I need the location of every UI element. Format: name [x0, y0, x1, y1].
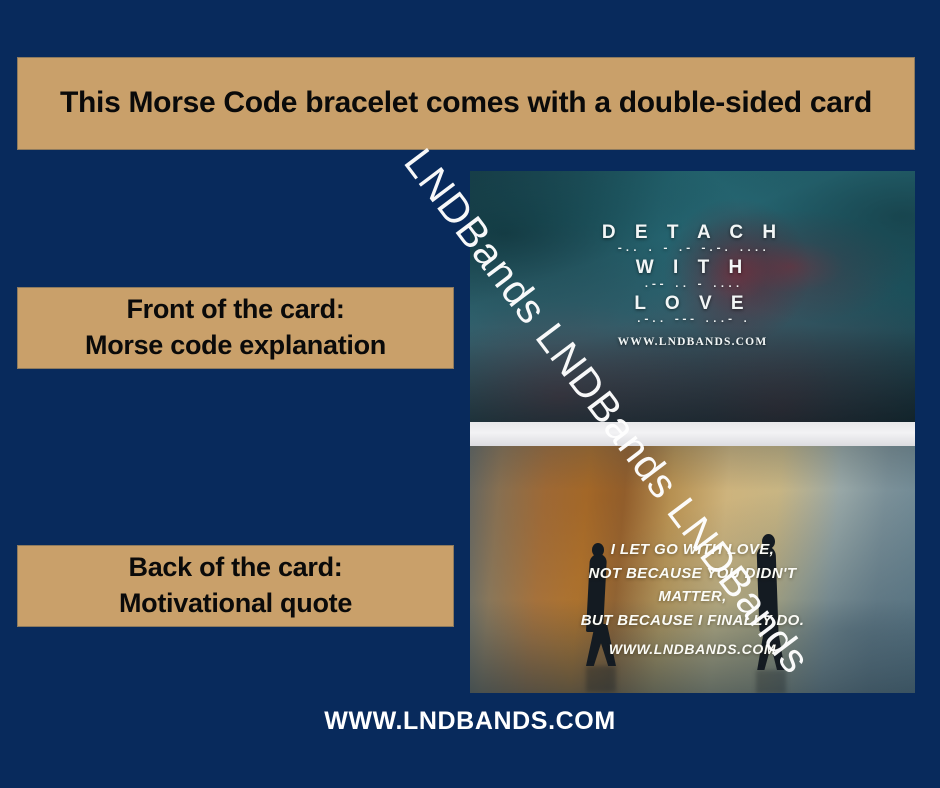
walker-figure-left-reflection: [586, 666, 616, 692]
back-quote-line-2: NOT BECAUSE YOU DIDN'T: [470, 562, 915, 586]
card-images-group: D E T A C H -.. . - .- -.-. .... W I T H…: [470, 171, 915, 693]
caption-back-text: Back of the card: Motivational quote: [111, 550, 360, 621]
card-separator-strip: [470, 422, 915, 446]
headline-banner: This Morse Code bracelet comes with a do…: [17, 57, 915, 150]
front-card-text: D E T A C H -.. . - .- -.-. .... W I T H…: [470, 223, 915, 348]
back-card-quote: I LET GO WITH LOVE, NOT BECAUSE YOU DIDN…: [470, 538, 915, 660]
front-card-website: WWW.LNDBANDS.COM: [470, 336, 915, 348]
front-morse-love: .-.. --- ...- .: [470, 314, 915, 326]
headline-text: This Morse Code bracelet comes with a do…: [36, 84, 896, 122]
front-word-detach: D E T A C H: [470, 223, 915, 242]
caption-box-front: Front of the card: Morse code explanatio…: [17, 287, 454, 369]
back-card-website: WWW.LNDBANDS.COM: [470, 638, 915, 660]
footer-website: WWW.LNDBANDS.COM: [0, 707, 940, 736]
front-morse-with: .-- .. - ....: [470, 279, 915, 291]
card-front-image: D E T A C H -.. . - .- -.-. .... W I T H…: [470, 171, 915, 422]
front-word-love: L O V E: [470, 294, 915, 313]
front-morse-detach: -.. . - .- -.-. ....: [470, 243, 915, 255]
poster-canvas: This Morse Code bracelet comes with a do…: [0, 0, 940, 788]
card-back-image: I LET GO WITH LOVE, NOT BECAUSE YOU DIDN…: [470, 446, 915, 693]
back-quote-line-4: BUT BECAUSE I FINALLY DO.: [470, 609, 915, 633]
back-quote-line-3: MATTER,: [470, 585, 915, 609]
caption-front-text: Front of the card: Morse code explanatio…: [77, 292, 394, 363]
front-word-with: W I T H: [470, 258, 915, 277]
walker-figure-right-reflection: [756, 670, 786, 693]
caption-box-back: Back of the card: Motivational quote: [17, 545, 454, 627]
back-quote-line-1: I LET GO WITH LOVE,: [470, 538, 915, 562]
